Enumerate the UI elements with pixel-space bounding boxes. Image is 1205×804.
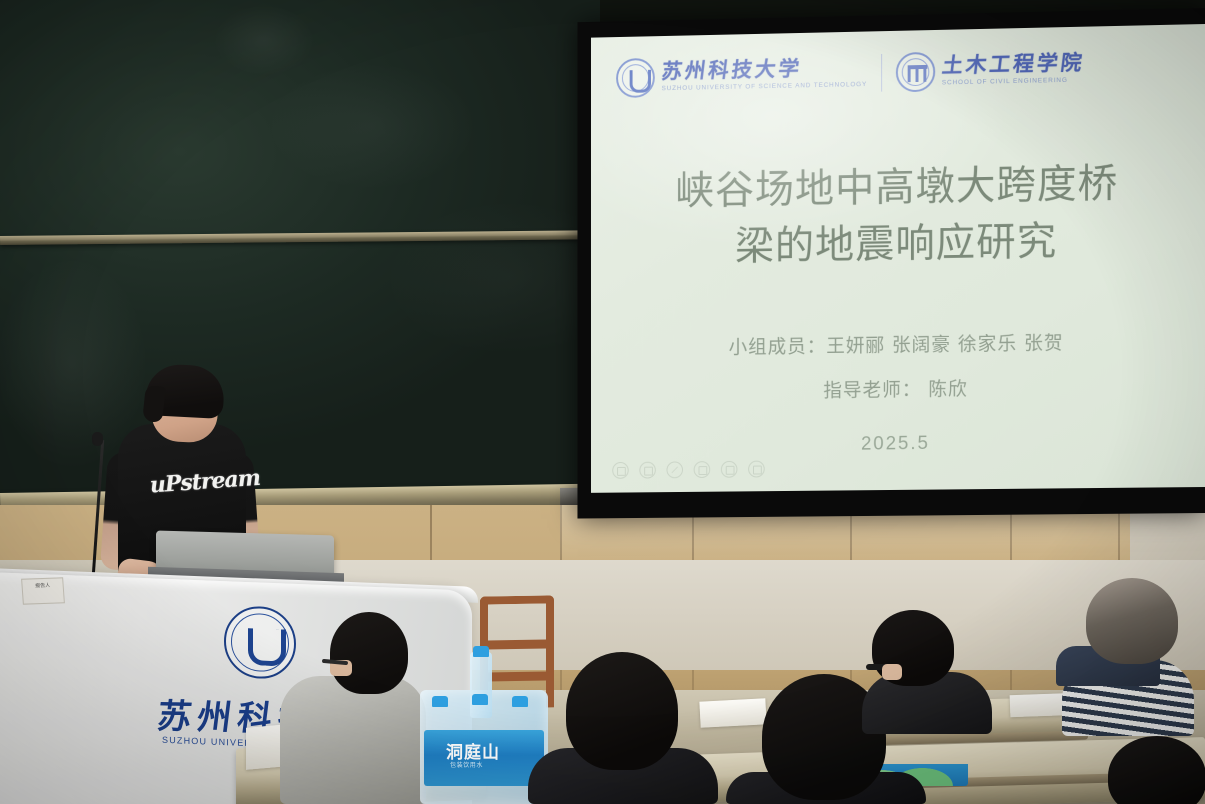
blackboard [0,0,600,505]
podium-name-card: 报告人 [21,577,65,604]
slide-group-members: 小组成员：王妍郦 张阔豪 徐家乐 张贺 [591,326,1205,361]
student-front-center-head [566,652,678,770]
pack-cap-3 [512,696,528,707]
projection-screen-frame: 苏州科技大学 SUZHOU UNIVERSITY OF SCIENCE AND … [577,8,1205,519]
student-right-glasses-face [882,664,902,680]
more-options-icon[interactable] [748,461,765,478]
university-logo: 苏州科技大学 SUZHOU UNIVERSITY OF SCIENCE AND … [616,53,867,98]
chair-slat-top [480,639,554,649]
slide-header-logos: 苏州科技大学 SUZHOU UNIVERSITY OF SCIENCE AND … [616,49,1084,98]
university-name-cn: 苏州科技大学 [660,57,868,82]
water-bottle-cap [473,646,489,657]
zoom-icon[interactable] [721,461,738,478]
papers-center [699,698,766,727]
tshirt-text: uPstream [149,468,223,499]
podium-university-seal-icon [224,605,296,680]
slide-title: 峡谷场地中高墩大跨度桥梁的地震响应研究 [591,154,1205,277]
school-name-en: SCHOOL OF CIVIL ENGINEERING [942,78,1084,87]
slide-grid-icon[interactable] [694,461,711,478]
tshirt-graphic: uPstream [149,468,223,503]
university-name-en: SUZHOU UNIVERSITY OF SCIENCE AND TECHNOL… [662,82,868,93]
water-bottle-label: 洞庭山 包装饮用水 [424,730,544,786]
civil-engineering-seal-icon [896,52,935,93]
previous-slide-icon[interactable] [612,462,628,479]
university-seal-icon [616,58,655,98]
pack-cap-1 [432,696,448,707]
water-brand-sub: 包装饮用水 [450,760,483,769]
single-water-bottle [470,652,492,718]
presenter-controls[interactable] [612,461,764,479]
school-logo: 土木工程学院 SCHOOL OF CIVIL ENGINEERING [896,49,1085,93]
student-front-left-head [330,612,408,694]
student-bottom-right-head [1108,736,1205,804]
attendee-right-striped-head [1086,578,1178,664]
classroom-presentation-photo: 苏州科技大学 SUZHOU UNIVERSITY OF SCIENCE AND … [0,0,1205,804]
next-slide-icon[interactable] [639,462,655,479]
chalk-residue [0,0,600,505]
pack-cap-2 [472,694,488,705]
name-card-text: 报告人 [22,578,63,595]
projected-slide: 苏州科技大学 SUZHOU UNIVERSITY OF SCIENCE AND … [591,24,1205,493]
logo-divider [881,54,882,92]
school-name-cn: 土木工程学院 [941,53,1086,77]
slide-date: 2025.5 [591,430,1205,458]
pen-tool-icon[interactable] [666,461,682,478]
microphone-head [92,432,103,446]
student-front-left-body [280,676,426,804]
slide-advisor: 指导老师： 陈欣 [591,371,1205,405]
